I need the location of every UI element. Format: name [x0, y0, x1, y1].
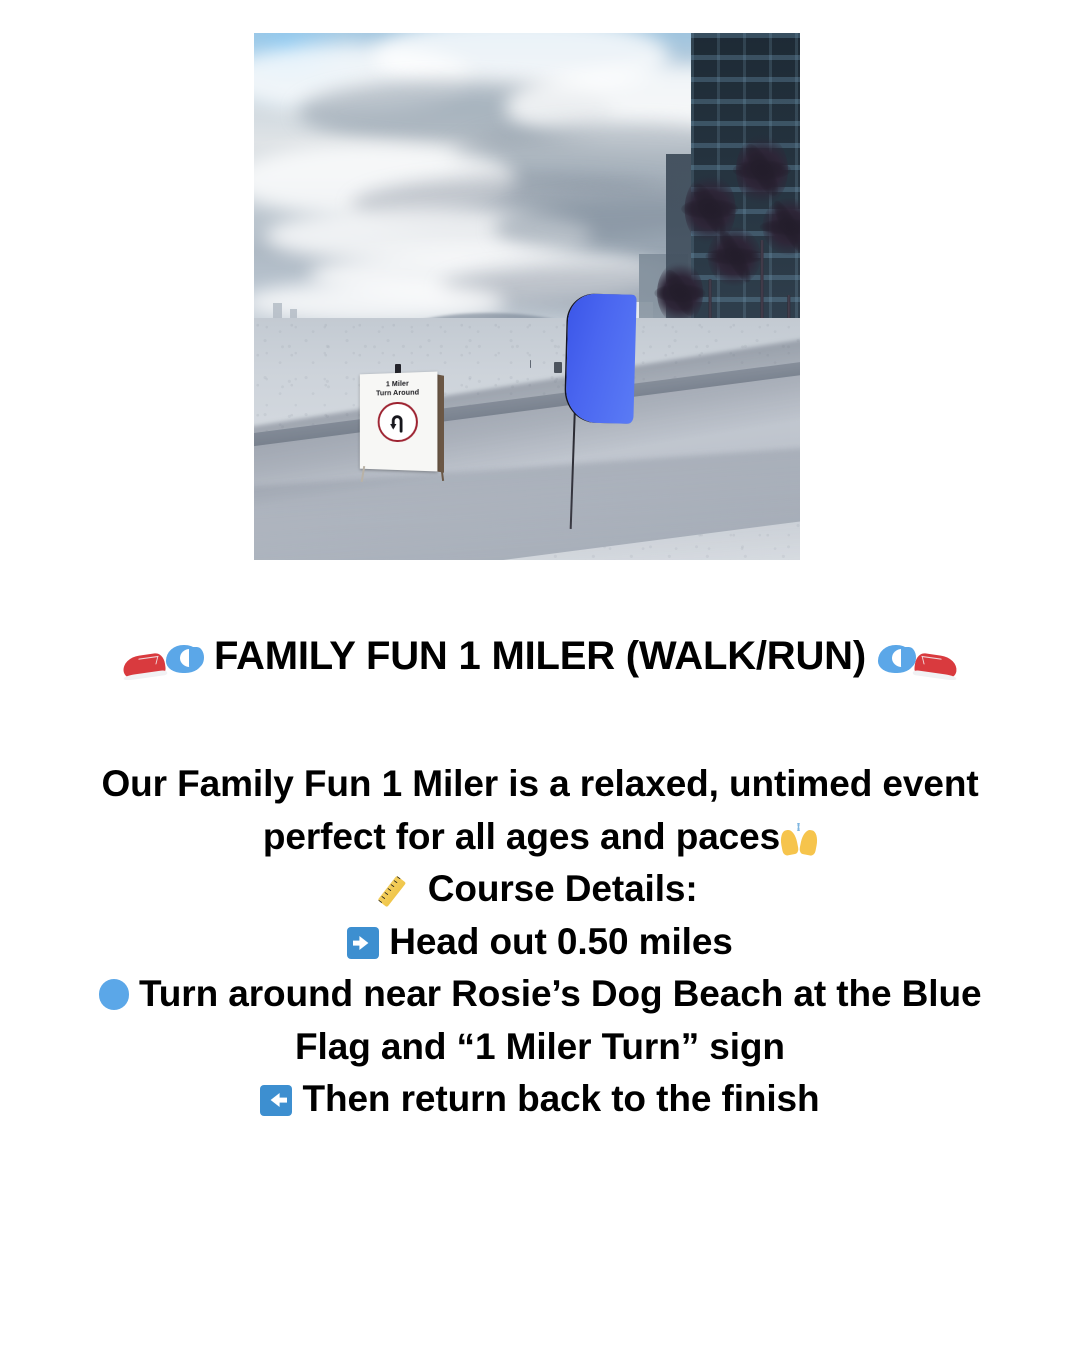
poster-canvas: 1 Miler Turn Around FAMILY FUN 1 MILER (…	[0, 0, 1080, 1350]
body-line-5: Turn around near Rosie’s Dog Beach at th…	[139, 973, 981, 1014]
sign-face: 1 Miler Turn Around	[360, 371, 437, 471]
trash-can	[554, 362, 562, 374]
body-line-5-row: Turn around near Rosie’s Dog Beach at th…	[64, 968, 1016, 1021]
photo-scene: 1 Miler Turn Around	[254, 33, 800, 560]
raising-hands-icon	[780, 824, 817, 854]
event-photo: 1 Miler Turn Around	[254, 33, 800, 560]
distant-person	[530, 360, 531, 368]
ruler-icon	[382, 875, 417, 907]
right-arrow-icon	[347, 927, 379, 959]
turn-around-sign: 1 Miler Turn Around	[358, 373, 437, 470]
body-copy: Our Family Fun 1 Miler is a relaxed, unt…	[64, 758, 1016, 1126]
blue-feather-flag	[566, 293, 638, 424]
left-arrow-icon	[260, 1085, 292, 1117]
sign-line-2: Turn Around	[376, 388, 419, 398]
body-line-2-row: perfect for all ages and paces	[64, 811, 1016, 864]
body-line-4: Head out 0.50 miles	[389, 921, 733, 962]
headline-text: FAMILY FUN 1 MILER (WALK/RUN)	[214, 634, 866, 678]
running-shoe-icon	[123, 647, 165, 676]
body-line-7: Then return back to the finish	[302, 1078, 819, 1119]
u-turn-icon	[377, 401, 417, 442]
blue-circle-icon	[99, 979, 129, 1009]
wave-icon	[877, 643, 915, 675]
body-line-3: Course Details:	[428, 868, 698, 909]
body-line-2: perfect for all ages and paces	[263, 816, 780, 857]
body-line-1: Our Family Fun 1 Miler is a relaxed, unt…	[64, 758, 1016, 811]
body-line-3-row: Course Details:	[64, 863, 1016, 916]
headline: FAMILY FUN 1 MILER (WALK/RUN)	[0, 632, 1080, 681]
running-shoe-icon	[915, 647, 957, 676]
body-line-6: Flag and “1 Miler Turn” sign	[64, 1021, 1016, 1074]
body-line-4-row: Head out 0.50 miles	[64, 916, 1016, 969]
body-line-7-row: Then return back to the finish	[64, 1073, 1016, 1126]
wave-icon	[165, 643, 203, 675]
